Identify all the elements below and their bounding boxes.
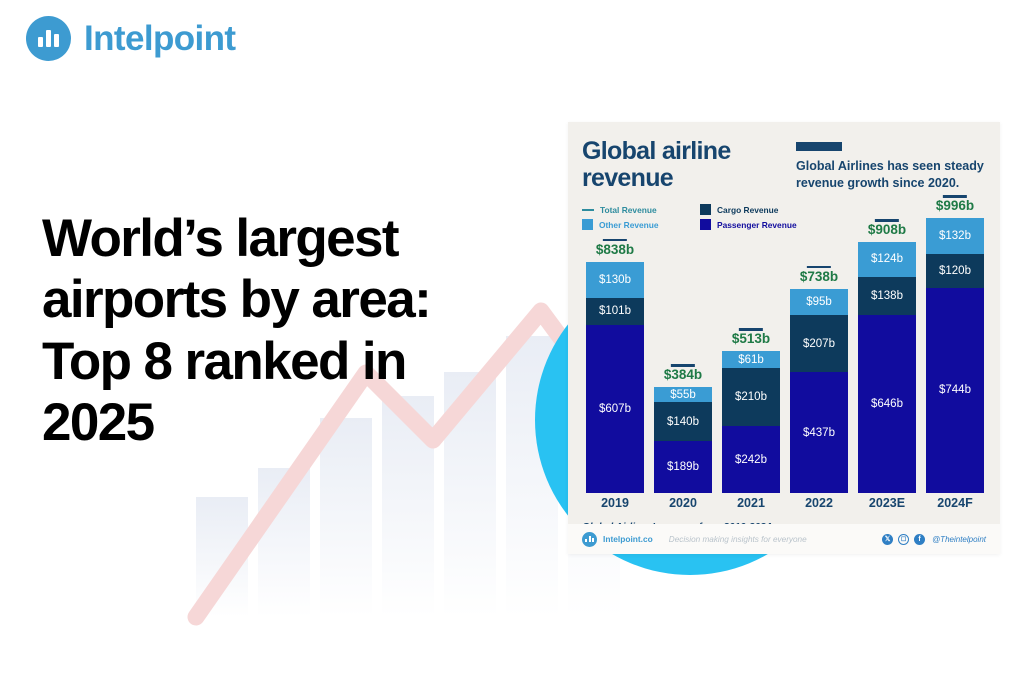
bar-segment: $189b — [654, 441, 712, 493]
bar-column: $513b$61b$210b$242b2021 — [722, 351, 780, 493]
bar-total-label: $838b — [596, 242, 634, 257]
x-axis-label: 2021 — [722, 496, 780, 510]
bar-segment: $607b — [586, 325, 644, 493]
footer-tagline: Decision making insights for everyone — [669, 535, 807, 544]
bar-segment: $130b — [586, 262, 644, 298]
bar-segment: $646b — [858, 315, 916, 493]
legend-label: Total Revenue — [600, 205, 657, 215]
social-links[interactable]: 𝕏 ☐ f @Theintelpoint — [882, 534, 986, 545]
bar-segment: $242b — [722, 426, 780, 493]
callout-rule — [796, 142, 842, 151]
callout: Global Airlines has seen steady revenue … — [796, 138, 986, 192]
bar-segment: $207b — [790, 315, 848, 372]
bar-total-label: $384b — [664, 367, 702, 382]
chart-card: Global airline revenue Global Airlines h… — [568, 122, 1000, 554]
x-axis-label: 2019 — [586, 496, 644, 510]
legend-label: Cargo Revenue — [717, 205, 778, 215]
bar-segment: $61b — [722, 351, 780, 368]
bar-segment: $138b — [858, 277, 916, 315]
x-axis-label: 2020 — [654, 496, 712, 510]
bar-chart-circle-icon — [26, 16, 71, 61]
bar-segment: $132b — [926, 218, 984, 254]
facebook-icon[interactable]: f — [914, 534, 925, 545]
bar-column: $908b$124b$138b$646b2023E — [858, 242, 916, 493]
bar-segment: $437b — [790, 372, 848, 493]
bar-total-label: $996b — [936, 198, 974, 213]
social-handle: @Theintelpoint — [932, 535, 986, 544]
x-axis-label: 2024F — [926, 496, 984, 510]
bar-segment: $124b — [858, 242, 916, 276]
bar-column: $996b$132b$120b$744b2024F — [926, 218, 984, 493]
bar-column: $738b$95b$207b$437b2022 — [790, 289, 848, 493]
x-axis-label: 2022 — [790, 496, 848, 510]
chart-plot-area: $838b$130b$101b$607b2019$384b$55b$140b$1… — [582, 218, 986, 515]
bar-segment: $120b — [926, 254, 984, 287]
bar-column: $838b$130b$101b$607b2019 — [586, 262, 644, 493]
bar-total-label: $513b — [732, 331, 770, 346]
bar-total-label: $738b — [800, 269, 838, 284]
bar-total-label: $908b — [868, 222, 906, 237]
brand-logo: Intelpoint — [26, 16, 235, 61]
brand-name: Intelpoint — [84, 19, 235, 59]
legend-item: Total Revenue — [582, 204, 690, 215]
bar-segment: $210b — [722, 368, 780, 426]
bar-chart-circle-icon — [582, 532, 597, 547]
bar-segment: $101b — [586, 298, 644, 326]
chart-title: Global airline revenue — [582, 138, 782, 192]
x-icon[interactable]: 𝕏 — [882, 534, 893, 545]
page-headline: World’s largest airports by area: Top 8 … — [42, 208, 512, 454]
card-footer: Intelpoint.co Decision making insights f… — [568, 524, 1000, 554]
bar-segment: $140b — [654, 402, 712, 441]
bar-segment: $744b — [926, 288, 984, 493]
card-header: Global airline revenue Global Airlines h… — [582, 138, 986, 192]
bar-segment: $95b — [790, 289, 848, 315]
x-axis-label: 2023E — [858, 496, 916, 510]
instagram-icon[interactable]: ☐ — [898, 534, 909, 545]
legend-swatch — [582, 209, 594, 211]
footer-brand: Intelpoint.co — [603, 534, 653, 544]
bar-segment: $55b — [654, 387, 712, 402]
legend-swatch — [700, 204, 711, 215]
bar-column: $384b$55b$140b$189b2020 — [654, 387, 712, 493]
callout-text: Global Airlines has seen steady revenue … — [796, 158, 986, 191]
